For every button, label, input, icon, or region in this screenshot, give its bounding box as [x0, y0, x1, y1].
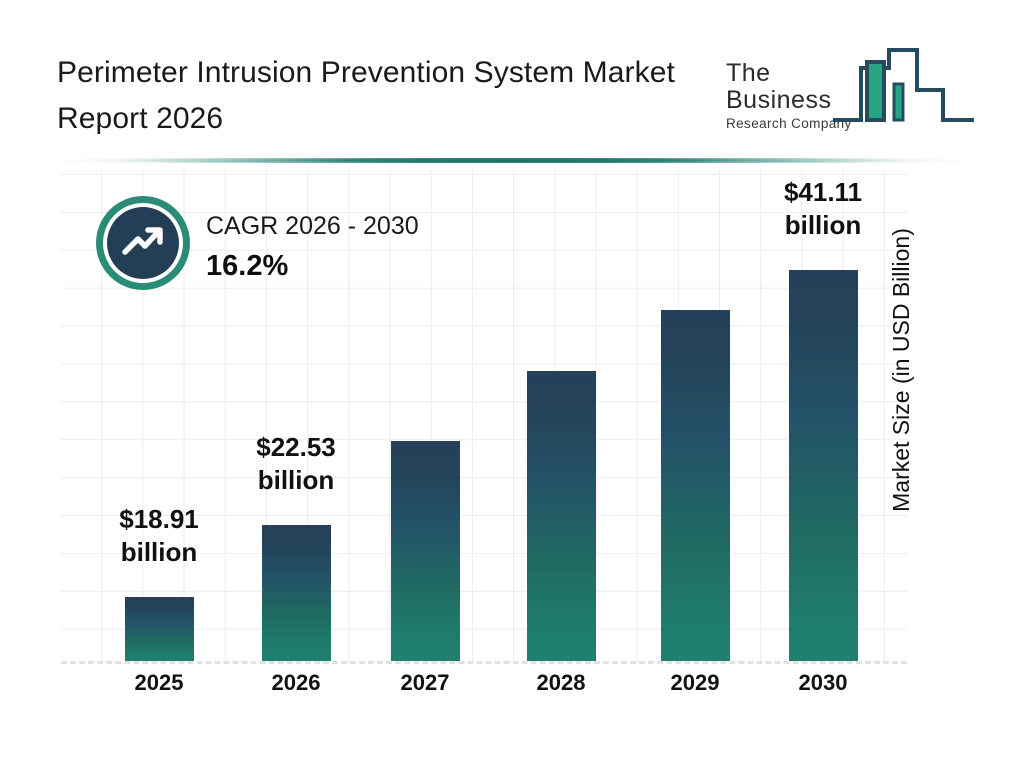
company-logo: The Business Research Company: [726, 38, 976, 128]
bar-2029[interactable]: [661, 310, 730, 661]
bar-label-2026-line1: $22.53: [231, 431, 361, 464]
x-tick-2030: 2030: [758, 670, 888, 696]
page-header: Perimeter Intrusion Prevention System Ma…: [0, 0, 1024, 152]
cagr-period: CAGR 2026 - 2030: [206, 210, 419, 242]
cagr-badge-ring-gap: [103, 203, 183, 283]
cagr-value: 16.2%: [206, 246, 419, 286]
x-tick-2026: 2026: [231, 670, 361, 696]
y-axis-label: Market Size (in USD Billion): [888, 175, 915, 565]
bar-label-2025-line2: billion: [94, 536, 224, 569]
bar-2026[interactable]: [262, 525, 331, 661]
bar-label-2030-line1: $41.11: [758, 176, 888, 209]
x-tick-2027: 2027: [360, 670, 490, 696]
bar-2028[interactable]: [527, 371, 596, 661]
cagr-badge-core: [107, 207, 179, 279]
header-divider: [47, 158, 977, 163]
bar-2030[interactable]: [789, 270, 858, 661]
x-tick-2025: 2025: [94, 670, 224, 696]
bar-label-2026-line2: billion: [231, 464, 361, 497]
x-tick-2029: 2029: [630, 670, 760, 696]
page-title: Perimeter Intrusion Prevention System Ma…: [57, 50, 707, 142]
y-axis-label-wrap: Market Size (in USD Billion): [888, 0, 922, 175]
bar-label-2030-line2: billion: [758, 209, 888, 242]
cagr-annotation: CAGR 2026 - 2030 16.2%: [96, 196, 516, 306]
cagr-badge-circle: [96, 196, 190, 290]
bar-2025[interactable]: [125, 597, 194, 661]
x-tick-2028: 2028: [496, 670, 626, 696]
chart-page: Perimeter Intrusion Prevention System Ma…: [0, 0, 1024, 768]
bar-2027[interactable]: [391, 441, 460, 661]
x-axis: 2025 2026 2027 2028 2029 2030: [47, 670, 977, 710]
bar-label-2025-line1: $18.91: [94, 503, 224, 536]
trending-up-icon: [120, 221, 166, 266]
cagr-text-block: CAGR 2026 - 2030 16.2%: [206, 210, 419, 286]
